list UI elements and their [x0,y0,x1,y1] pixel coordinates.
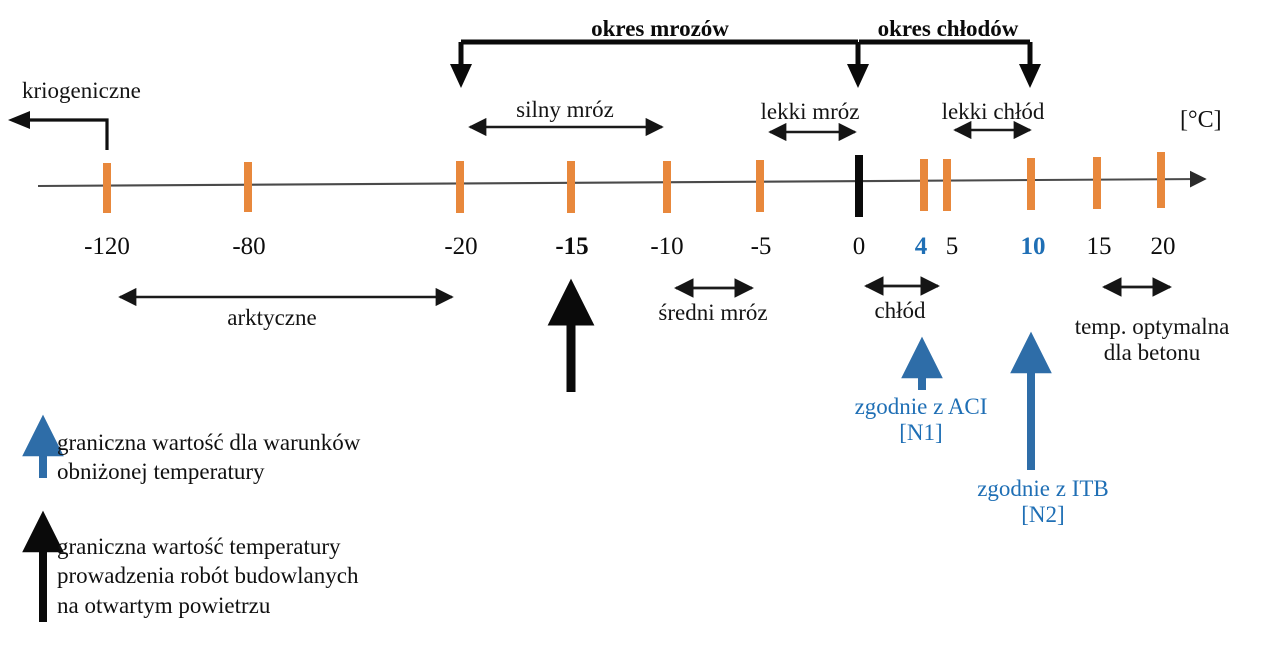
tick-mark-10 [1027,158,1035,210]
legend-black-line3: na otwartym powietrzu [57,591,358,620]
range-label-sredni-mroz: średni mróz [658,300,767,326]
callout-aci: zgodnie z ACI [N1] [855,394,988,446]
range-label-temp-optymalna-line2: dla betonu [1075,340,1230,366]
range-label-arktyczne: arktyczne [227,305,316,331]
tick-mark-20 [1157,152,1165,208]
diagram-canvas: [°C] kriogeniczne okres mrozów okres chł… [0,0,1280,652]
legend-item-black: graniczna wartość temperatury prowadzeni… [57,532,358,620]
legend-blue-line1: graniczna wartość dla warunków [57,428,360,457]
tick-mark-4 [920,159,928,211]
kriogeniczne-leader [8,111,107,150]
tick-label--15: -15 [555,233,588,261]
tick-mark--120 [103,163,111,213]
tick-mark-5 [943,159,951,211]
tick-label-15: 15 [1087,233,1112,261]
tick-label--5: -5 [751,233,772,261]
callout-aci-line1: zgodnie z ACI [855,394,988,420]
range-label-kriogeniczne: kriogeniczne [22,78,141,104]
tick-mark-0 [855,155,863,217]
tick-mark--80 [244,162,252,212]
range-label-silny-mroz: silny mróz [516,97,614,123]
tick-label-0: 0 [853,233,866,261]
tick-label--10: -10 [650,233,683,261]
bracket-label-okres-mrozow: okres mrozów [591,16,729,42]
tick-mark--10 [663,161,671,213]
tick-label-10: 10 [1021,233,1046,261]
tick-label--80: -80 [232,233,265,261]
tick-mark-15 [1093,157,1101,209]
callout-aci-line2: [N1] [855,420,988,446]
tick-label-5: 5 [946,233,959,261]
range-label-temp-optymalna: temp. optymalna dla betonu [1075,314,1230,366]
axis-ticks [103,152,1165,217]
range-label-chlod: chłód [874,298,925,324]
tick-label--120: -120 [84,233,130,261]
callout-itb-line2: [N2] [977,502,1109,528]
axis-unit-label: [°C] [1180,107,1222,134]
legend-item-blue: graniczna wartość dla warunków obniżonej… [57,428,360,487]
legend-blue-line2: obniżonej temperatury [57,457,360,486]
tick-label--20: -20 [444,233,477,261]
temperature-axis [38,179,1205,186]
legend-black-line2: prowadzenia robót budowlanych [57,561,358,590]
range-label-lekki-mroz: lekki mróz [761,99,860,125]
tick-label-20: 20 [1151,233,1176,261]
bracket-okres-chlodow [859,42,1041,88]
legend-black-line1: graniczna wartość temperatury [57,532,358,561]
range-label-lekki-chlod: lekki chłód [942,99,1045,125]
bracket-okres-mrozow [450,42,869,88]
tick-label-4: 4 [915,233,928,261]
callout-itb: zgodnie z ITB [N2] [977,476,1109,528]
tick-mark--20 [456,161,464,213]
bracket-label-okres-chlodow: okres chłodów [878,16,1019,42]
tick-mark--15 [567,161,575,213]
callout-itb-line1: zgodnie z ITB [977,476,1109,502]
tick-mark--5 [756,160,764,212]
range-label-temp-optymalna-line1: temp. optymalna [1075,314,1230,340]
